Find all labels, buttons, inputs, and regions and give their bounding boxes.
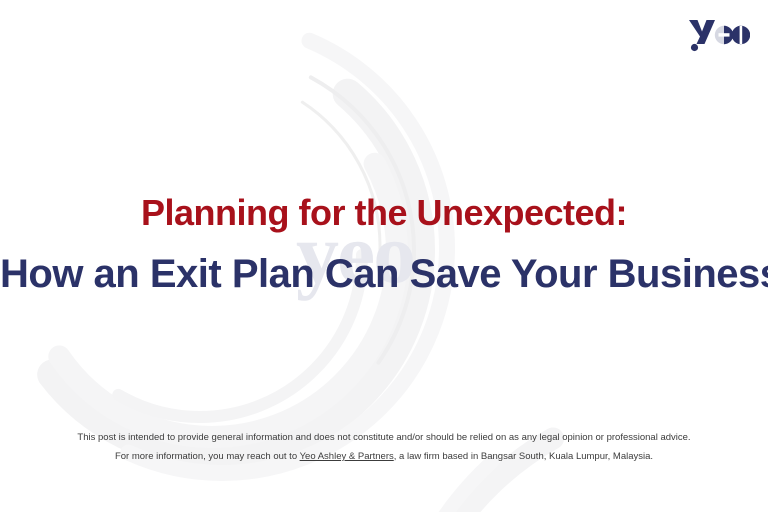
yeo-ashley-partners-link[interactable]: Yeo Ashley & Partners <box>300 451 394 462</box>
footer-disclaimer: This post is intended to provide general… <box>0 428 768 466</box>
slide-canvas: yeo Planning for the Unexpected: How an … <box>0 0 768 512</box>
footer-line-1: This post is intended to provide general… <box>0 428 768 447</box>
footer-line-2: For more information, you may reach out … <box>0 447 768 466</box>
headline-line-1: Planning for the Unexpected: <box>0 190 768 236</box>
yeo-logo <box>688 14 750 54</box>
headline-line-2: How an Exit Plan Can Save Your Business <box>0 246 768 302</box>
footer-line-2-suffix: , a law firm based in Bangsar South, Kua… <box>394 451 653 462</box>
footer-line-2-prefix: For more information, you may reach out … <box>115 451 300 462</box>
headline-block: Planning for the Unexpected: How an Exit… <box>0 190 768 302</box>
